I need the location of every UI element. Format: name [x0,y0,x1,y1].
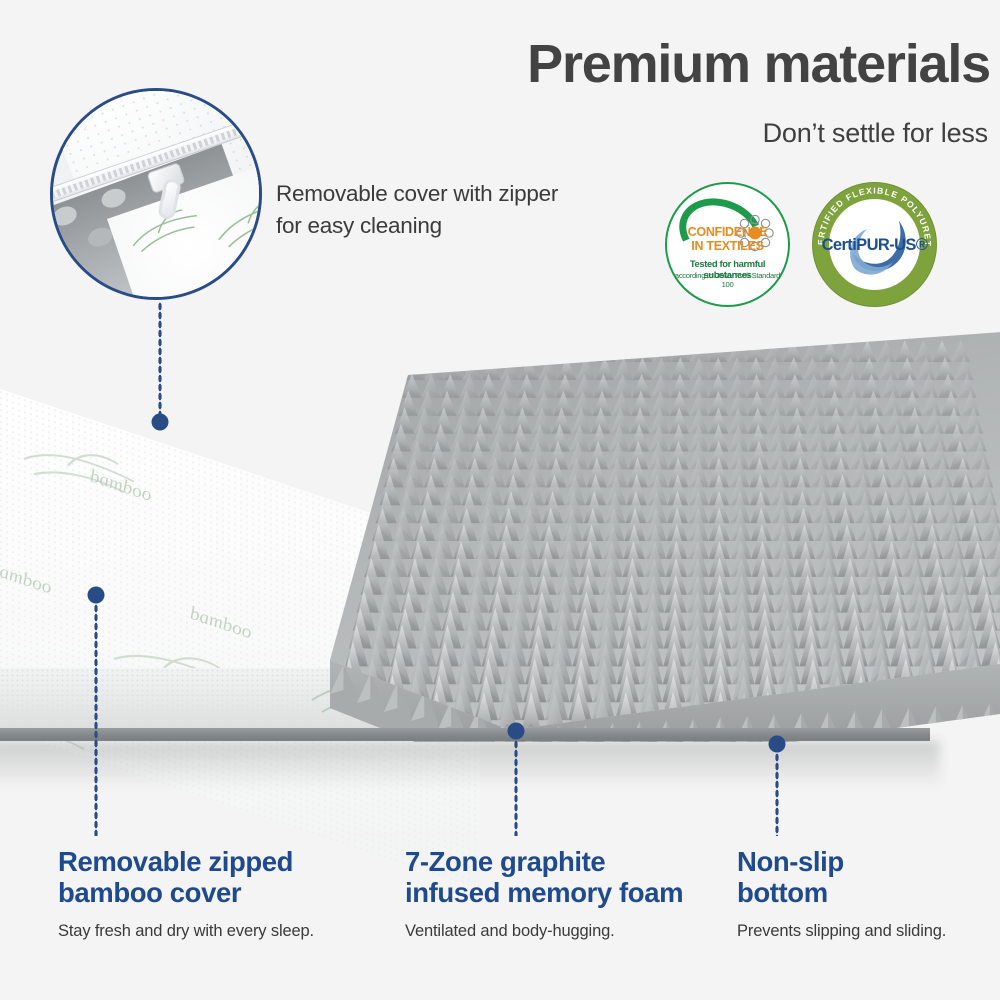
feature-foam-title: 7-Zone graphite infused memory foam [405,846,695,908]
foam-top-surface [330,330,1000,730]
feature-cover-title: Removable zipped bamboo cover [58,846,368,908]
mattress-topper-illustration: bamboo bamboo bamboo bamboo bamboo [0,330,1000,780]
connector-line-zipper [158,302,162,414]
connector-dot-cover [88,587,105,604]
egg-crate-foam [330,330,1000,742]
page-title: Premium materials [527,36,990,93]
feature-bottom-title: Non-slip bottom [737,846,987,908]
feature-cover: Removable zipped bamboo cover Stay fresh… [58,846,368,941]
connector-line-cover [94,604,98,836]
feature-bottom: Non-slip bottom Prevents slipping and sl… [737,846,987,941]
feature-bottom-title-line1: Non-slip [737,846,987,877]
connector-line-bottom [775,753,779,836]
infographic-page: Premium materials Don’t settle for less … [0,0,1000,1000]
zipper-detail-inset [50,88,262,300]
bamboo-leaf-icon [208,186,262,258]
oeko-tex-line2: IN TEXTILES [665,240,790,254]
oeko-tex-line4: according to Oeko-Tex® Standard 100 [669,271,786,289]
non-slip-bottom-layer [0,728,930,741]
oeko-tex-line1: CONFIDENCE [665,226,790,240]
feature-bottom-subtitle: Prevents slipping and sliding. [737,922,987,941]
connector-line-foam [514,740,518,836]
feature-foam-title-line2: infused memory foam [405,877,695,908]
certification-badges: CONFIDENCE IN TEXTILES Tested for harmfu… [665,182,937,307]
feature-cover-subtitle: Stay fresh and dry with every sleep. [58,922,368,941]
feature-bottom-title-line2: bottom [737,877,987,908]
zipper-callout-line1: Removable cover with zipper [276,178,558,210]
certipur-bottom-text: WWW.CERTIPUR.US [833,262,916,292]
feature-cover-title-line2: bamboo cover [58,877,368,908]
feature-foam-title-line1: 7-Zone graphite [405,846,695,877]
connector-dot-bottom [769,736,786,753]
certipur-badge: CONTAINS CERTIFIED FLEXIBLE POLYURETHANE… [812,182,937,307]
page-subtitle: Don’t settle for less [763,118,988,149]
zipper-callout-text: Removable cover with zipper for easy cle… [276,178,558,242]
oeko-tex-badge: CONFIDENCE IN TEXTILES Tested for harmfu… [665,182,790,307]
oeko-tex-headline: CONFIDENCE IN TEXTILES [665,226,790,253]
connector-dot-foam [508,723,525,740]
feature-cover-title-line1: Removable zipped [58,846,368,877]
foam-peak-grid [330,330,1000,730]
feature-foam: 7-Zone graphite infused memory foam Vent… [405,846,695,941]
feature-foam-subtitle: Ventilated and body-hugging. [405,922,695,941]
zipper-callout-line2: for easy cleaning [276,210,558,242]
drop-shadow [0,741,940,789]
certipur-wordmark: CertiPUR-US® [812,236,937,255]
connector-dot-zipper [152,414,169,431]
